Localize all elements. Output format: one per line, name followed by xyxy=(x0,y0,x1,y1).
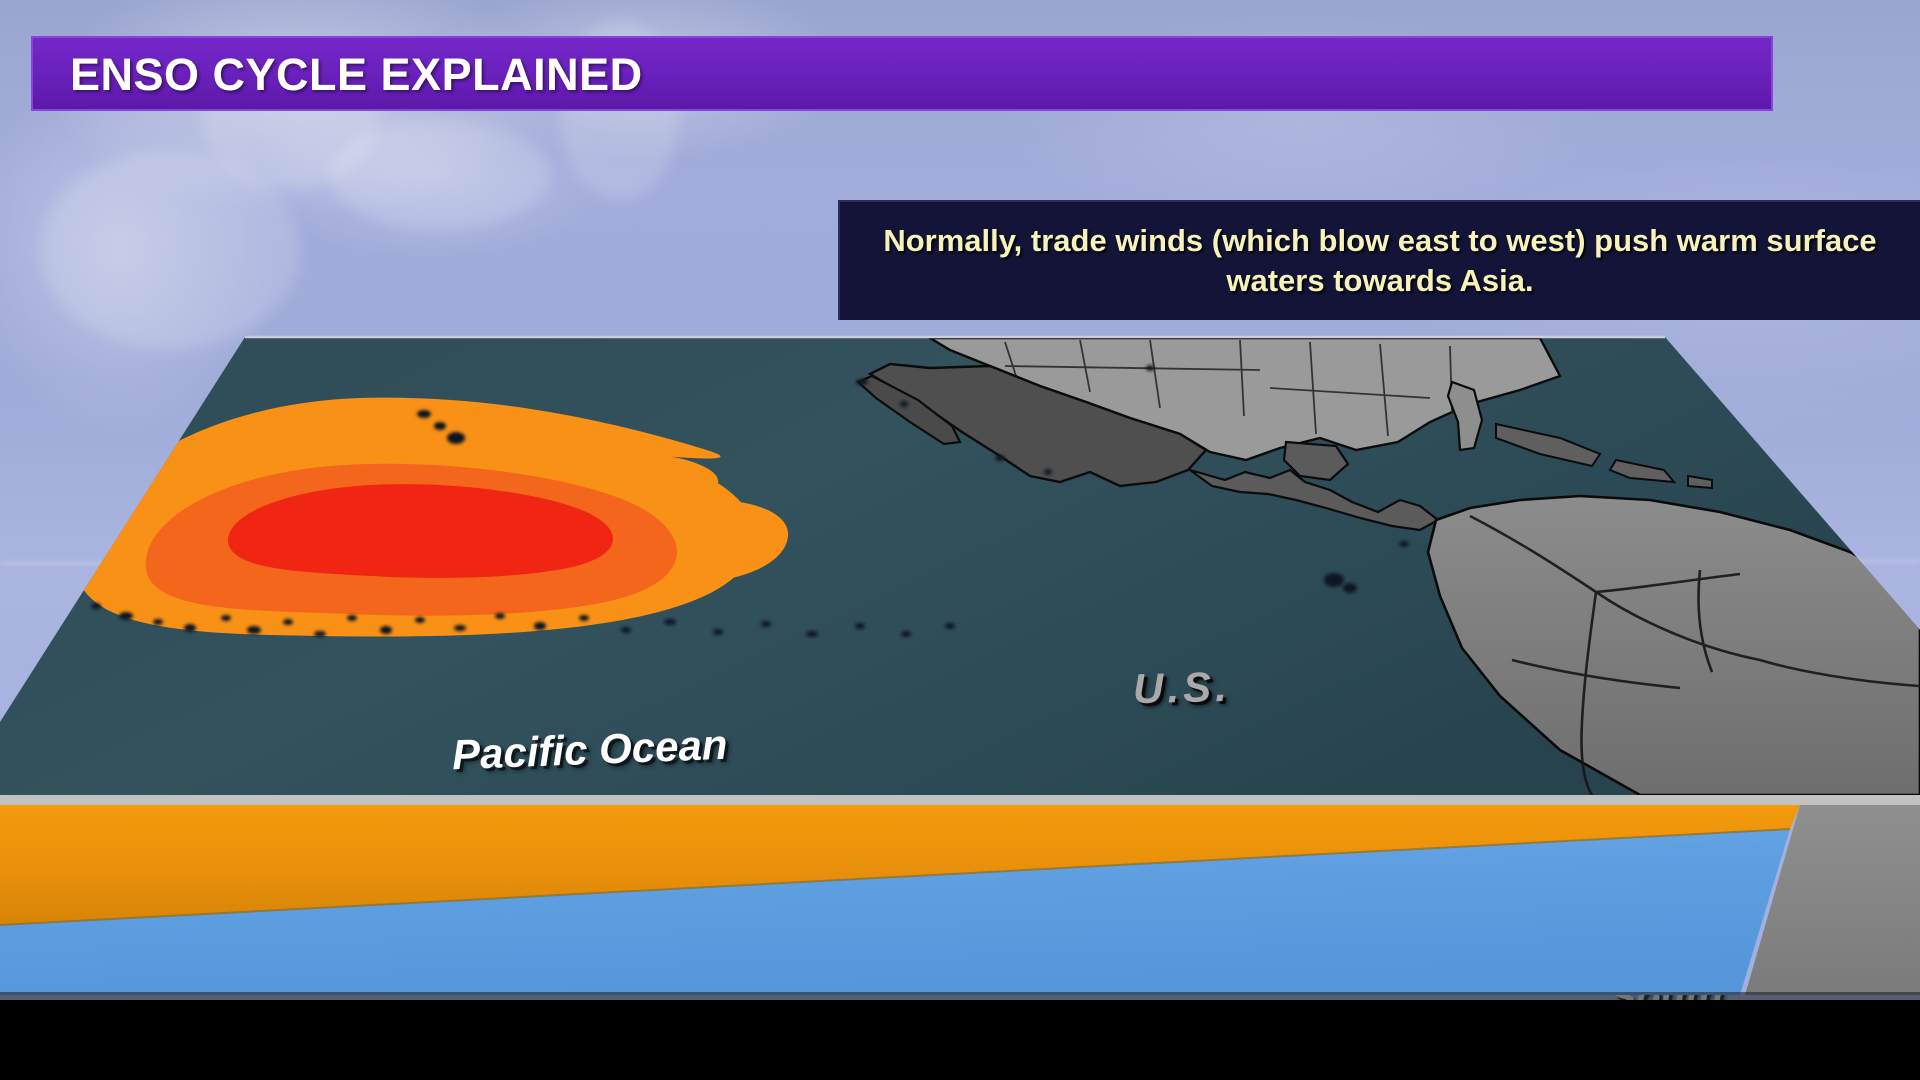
map-svg xyxy=(0,330,1920,810)
cross-section-svg xyxy=(0,795,1920,1000)
caption-box: Normally, trade winds (which blow east t… xyxy=(838,200,1920,320)
cloud-wisp xyxy=(40,150,300,350)
page-title: ENSO CYCLE EXPLAINED xyxy=(70,46,643,104)
title-bar: ENSO CYCLE EXPLAINED xyxy=(31,36,1773,111)
ocean-cross-section xyxy=(0,795,1920,1000)
enso-graphic-stage: ENSO CYCLE EXPLAINED Normally, trade win… xyxy=(0,0,1920,1080)
ocean-map-plane: Pacific Ocean U.S. South America xyxy=(0,330,1920,810)
letterbox-bar xyxy=(0,1000,1920,1080)
cross-section-bottom-edge xyxy=(0,992,1920,1000)
caption-text: Normally, trade winds (which blow east t… xyxy=(840,221,1920,301)
cloud-wisp xyxy=(330,120,550,230)
ocean-surface-line xyxy=(0,795,1920,805)
